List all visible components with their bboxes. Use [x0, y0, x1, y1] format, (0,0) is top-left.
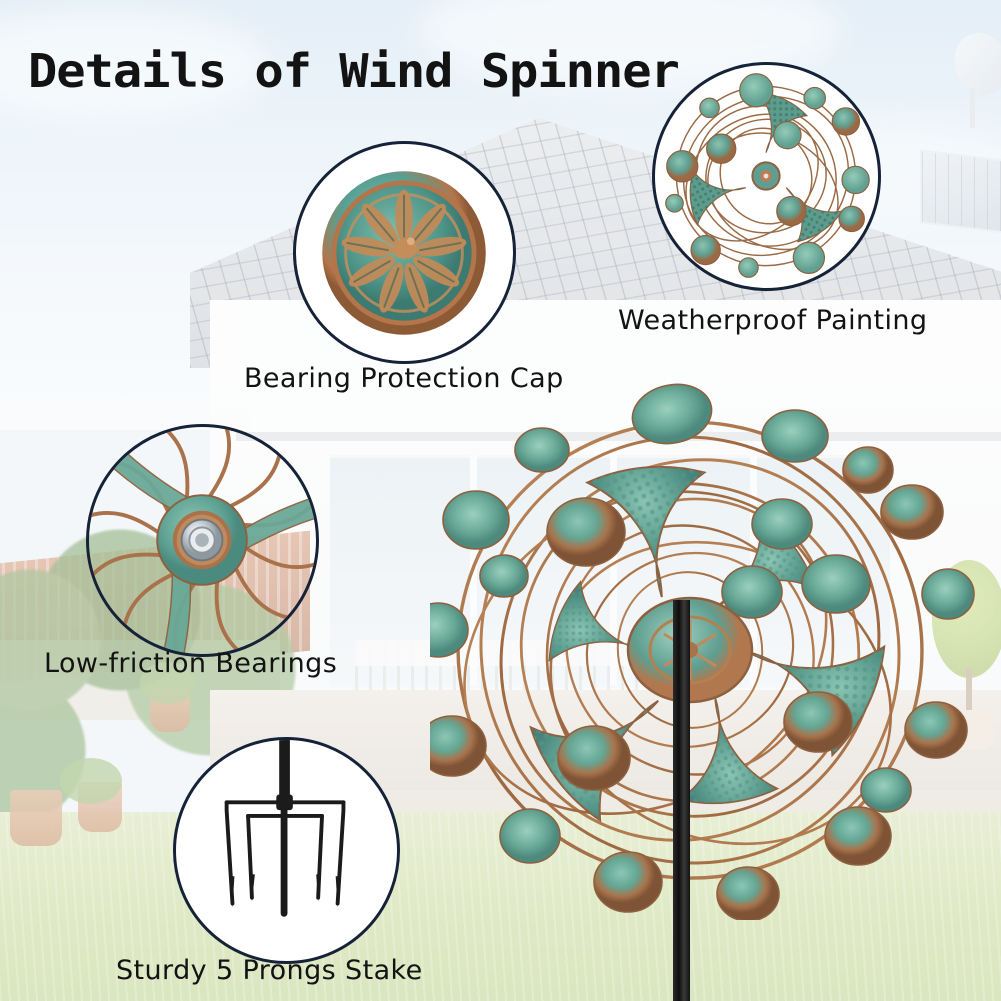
page-title: Details of Wind Spinner — [28, 48, 679, 94]
callout-label-low-friction-bearings: Low-friction Bearings — [44, 648, 337, 679]
callout-low-friction-bearings[interactable] — [86, 424, 319, 657]
infographic-canvas: Bearing Protection Cap — [0, 0, 1001, 1001]
callout-label-bearing-protection-cap: Bearing Protection Cap — [244, 363, 564, 394]
wind-spinner-product — [430, 360, 1001, 920]
bearing-cap-graphic — [296, 144, 513, 361]
callout-label-sturdy-5-prongs-stake: Sturdy 5 Prongs Stake — [116, 955, 423, 986]
hub-medallion — [628, 598, 752, 702]
bearing-hub-graphic — [89, 427, 316, 654]
callout-weatherproof-painting[interactable] — [652, 62, 881, 291]
callout-label-weatherproof-painting: Weatherproof Painting — [618, 305, 927, 336]
spinner-pole — [673, 600, 690, 1001]
five-prong-stake-graphic — [176, 740, 397, 961]
wind-spinner-svg — [430, 360, 1001, 920]
callout-sturdy-5-prongs-stake[interactable] — [173, 737, 400, 964]
spinner-face-graphic — [655, 65, 878, 288]
callout-bearing-protection-cap[interactable] — [293, 141, 516, 364]
